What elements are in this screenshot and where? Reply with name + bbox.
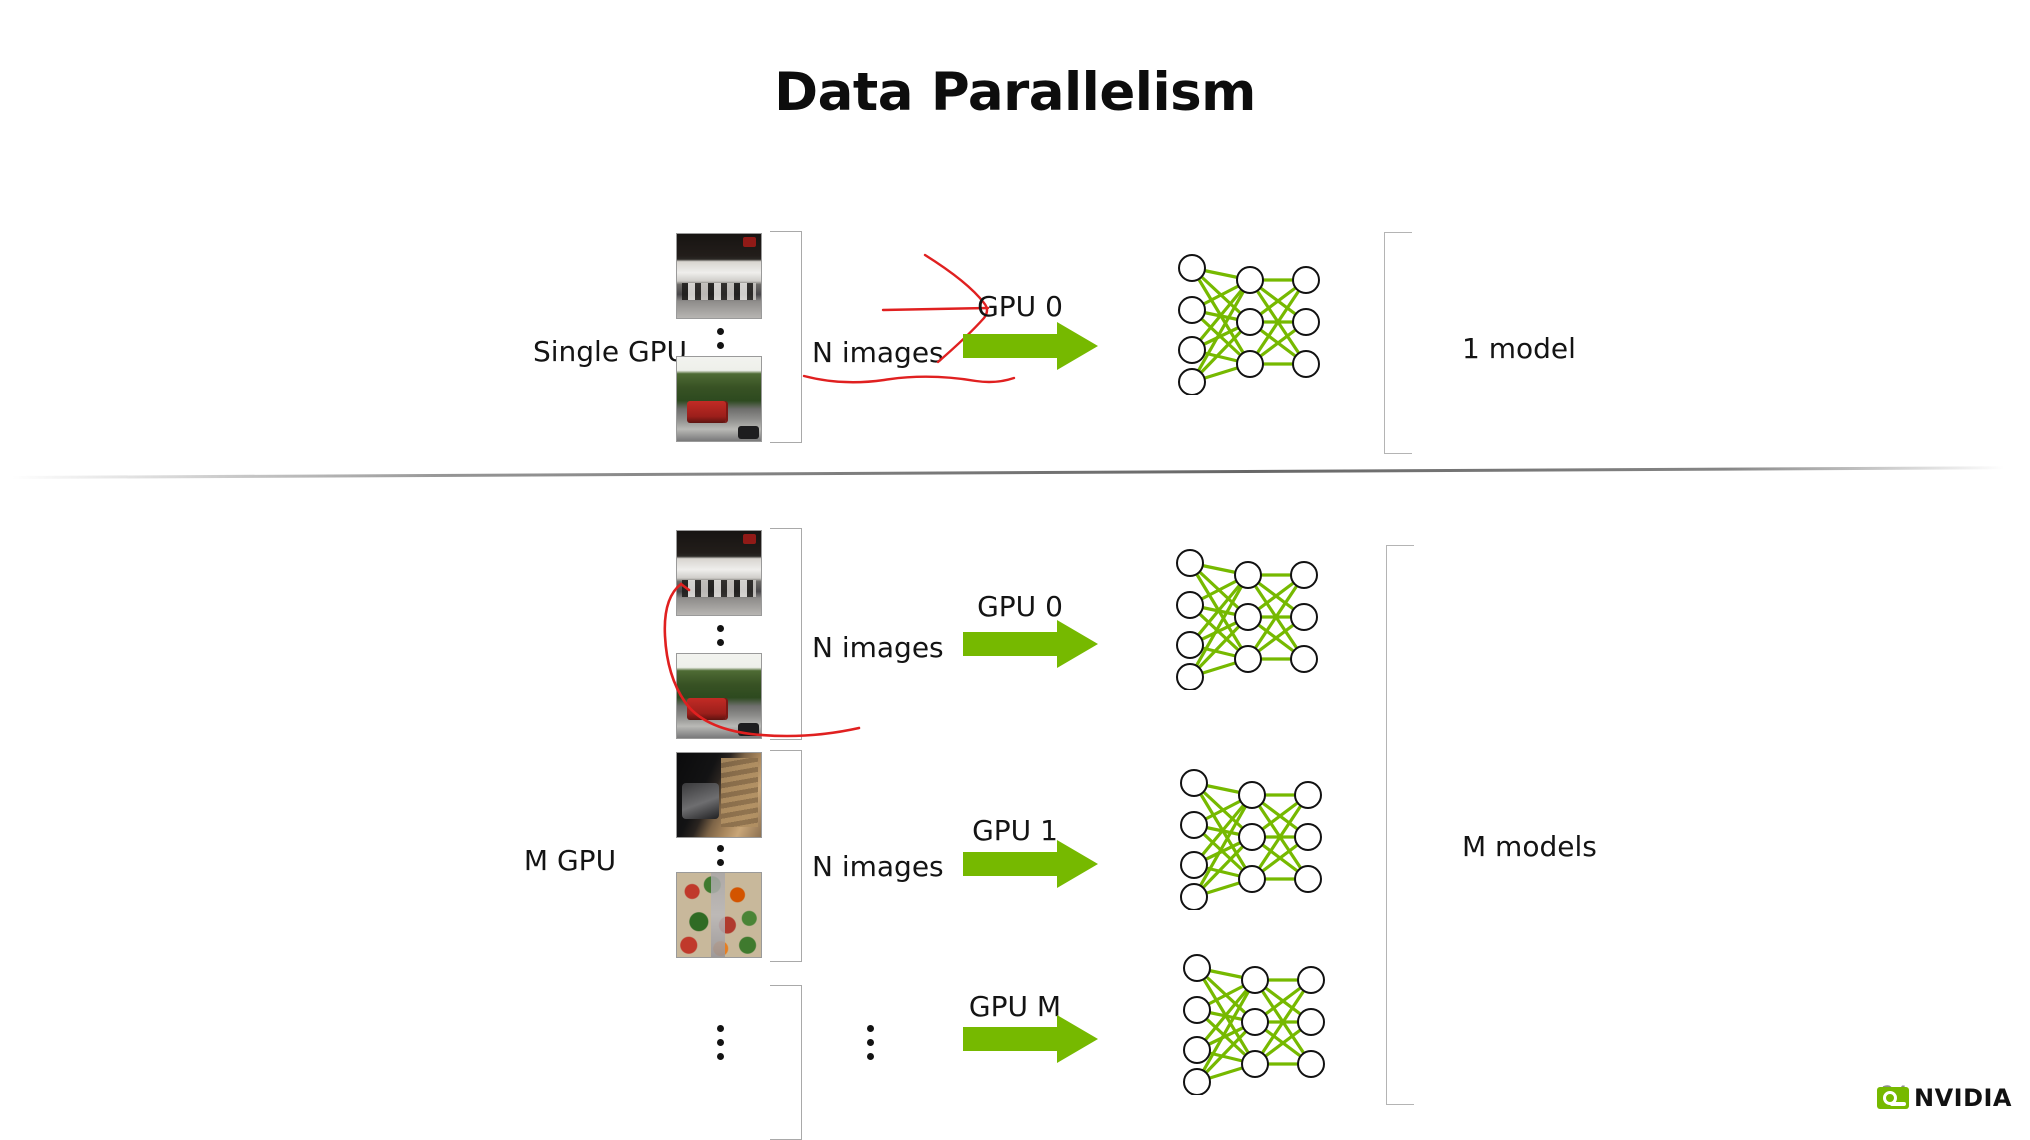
m-gpu-label: M GPU	[450, 844, 690, 877]
thumbnail-truck-row0-bottom	[676, 653, 762, 739]
model-bracket-single	[1384, 232, 1412, 454]
n-images-label-single: N images	[812, 336, 944, 369]
thumbnail-train-row0-top	[676, 530, 762, 616]
thumbnail-truck-bottom	[676, 356, 762, 442]
batch-ellipsis-row2	[860, 1022, 880, 1062]
section-divider	[12, 466, 2004, 479]
thumbnail-train-top	[676, 233, 762, 319]
green-arrow-icon-row0	[963, 620, 1098, 668]
green-arrow-icon-row1	[963, 840, 1098, 888]
batch-bracket-single	[770, 231, 802, 443]
one-model-label: 1 model	[1462, 332, 1576, 365]
gpu-label-single: GPU 0	[930, 290, 1110, 323]
batch-bracket-row1	[770, 750, 802, 962]
neural-network-diagram-single	[1170, 250, 1330, 395]
neural-network-diagram-row1	[1172, 765, 1332, 910]
model-bracket-multi	[1386, 545, 1414, 1105]
green-arrow-icon-single	[963, 322, 1098, 370]
n-images-label-row0: N images	[812, 631, 944, 664]
batch-bracket-row0	[770, 528, 802, 740]
page-title: Data Parallelism	[0, 62, 2030, 123]
slide-canvas: Data Parallelism Single GPU N images GPU…	[0, 0, 2030, 1140]
batch-bracket-row2	[770, 985, 802, 1140]
nvidia-eye-icon	[1877, 1087, 1909, 1109]
thumbnail-floral-row1-bottom	[676, 872, 762, 958]
green-arrow-icon-row2	[963, 1015, 1098, 1063]
gpu-label-row0: GPU 0	[930, 590, 1110, 623]
nvidia-wordmark: NVIDIA	[1914, 1084, 2012, 1112]
n-images-label-row1: N images	[812, 850, 944, 883]
neural-network-diagram-row2	[1175, 950, 1335, 1095]
thumbnail-stairs-row1-top	[676, 752, 762, 838]
m-models-label: M models	[1462, 830, 1597, 863]
nvidia-logo: NVIDIA	[1877, 1084, 2012, 1112]
neural-network-diagram-row0	[1168, 545, 1328, 690]
thumbnail-stack-ellipsis-row2	[710, 1022, 730, 1062]
